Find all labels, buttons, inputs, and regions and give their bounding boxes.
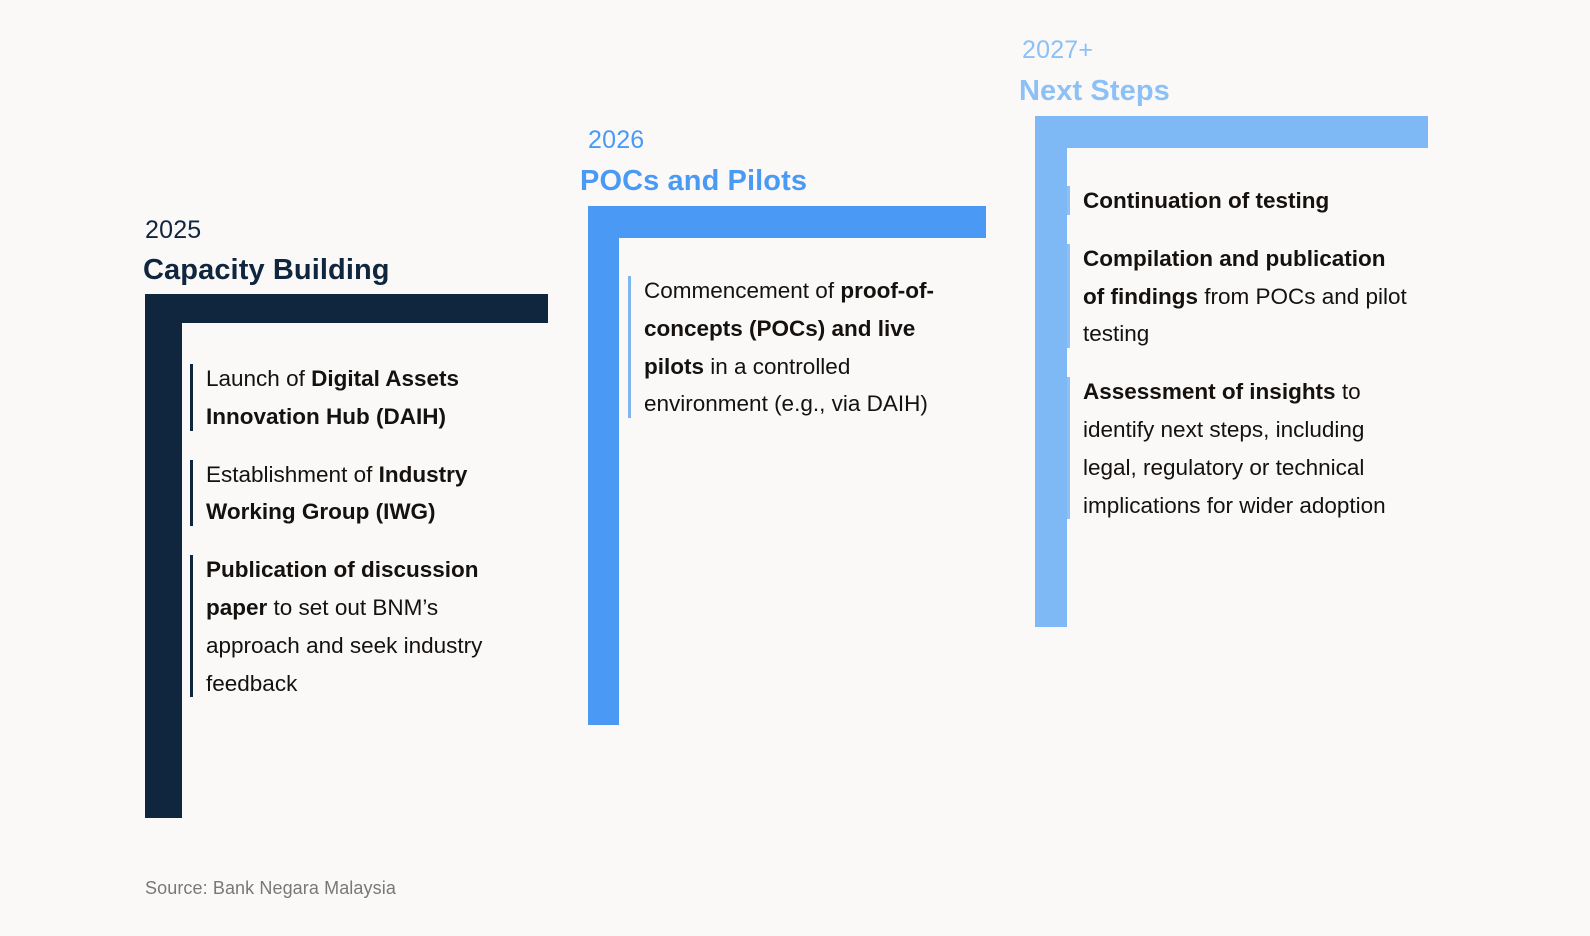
list-item-text: Publication of discussion paper to set o… xyxy=(206,551,510,702)
phase-items-capacity-building: Launch of Digital Assets Innovation Hub … xyxy=(190,360,510,702)
bullet-accent-bar xyxy=(628,276,631,418)
bullet-accent-bar xyxy=(190,555,193,697)
list-item: Commencement of proof-of-concepts (POCs)… xyxy=(628,272,948,423)
list-item: Establishment of Industry Working Group … xyxy=(190,456,510,532)
phase-bracket-top-pocs-and-pilots xyxy=(588,206,986,238)
list-item-text: Launch of Digital Assets Innovation Hub … xyxy=(206,360,510,436)
bullet-accent-bar xyxy=(190,460,193,527)
phase-bracket-stem-pocs-and-pilots xyxy=(588,206,619,725)
list-item-text: Establishment of Industry Working Group … xyxy=(206,456,510,532)
list-item: Launch of Digital Assets Innovation Hub … xyxy=(190,360,510,436)
list-item-text: Assessment of insights to identify next … xyxy=(1083,373,1407,524)
bullet-accent-bar xyxy=(1067,186,1070,215)
phase-title-pocs-and-pilots: POCs and Pilots xyxy=(580,167,807,196)
roadmap-canvas: 2025Capacity BuildingLaunch of Digital A… xyxy=(0,0,1590,936)
list-item: Assessment of insights to identify next … xyxy=(1067,373,1407,524)
list-item: Continuation of testing xyxy=(1067,182,1407,220)
phase-bracket-top-next-steps xyxy=(1035,116,1428,148)
list-item: Compilation and publication of findings … xyxy=(1067,240,1407,353)
phase-title-capacity-building: Capacity Building xyxy=(143,256,390,285)
phase-year-next-steps: 2027+ xyxy=(1022,38,1093,63)
list-item-text: Compilation and publication of findings … xyxy=(1083,240,1407,353)
phase-bracket-stem-capacity-building xyxy=(145,294,182,818)
phase-bracket-top-capacity-building xyxy=(145,294,548,323)
bullet-accent-bar xyxy=(190,364,193,431)
list-item-text: Commencement of proof-of-concepts (POCs)… xyxy=(644,272,948,423)
phase-items-pocs-and-pilots: Commencement of proof-of-concepts (POCs)… xyxy=(628,272,948,423)
phase-year-capacity-building: 2025 xyxy=(145,218,201,243)
phase-year-pocs-and-pilots: 2026 xyxy=(588,128,644,153)
source-label: Source: Bank Negara Malaysia xyxy=(145,878,396,899)
phase-items-next-steps: Continuation of testingCompilation and p… xyxy=(1067,182,1407,524)
bullet-accent-bar xyxy=(1067,244,1070,348)
list-item: Publication of discussion paper to set o… xyxy=(190,551,510,702)
phase-title-next-steps: Next Steps xyxy=(1019,77,1170,106)
list-item-text: Continuation of testing xyxy=(1083,182,1407,220)
bullet-accent-bar xyxy=(1067,377,1070,519)
phase-bracket-stem-next-steps xyxy=(1035,116,1067,627)
